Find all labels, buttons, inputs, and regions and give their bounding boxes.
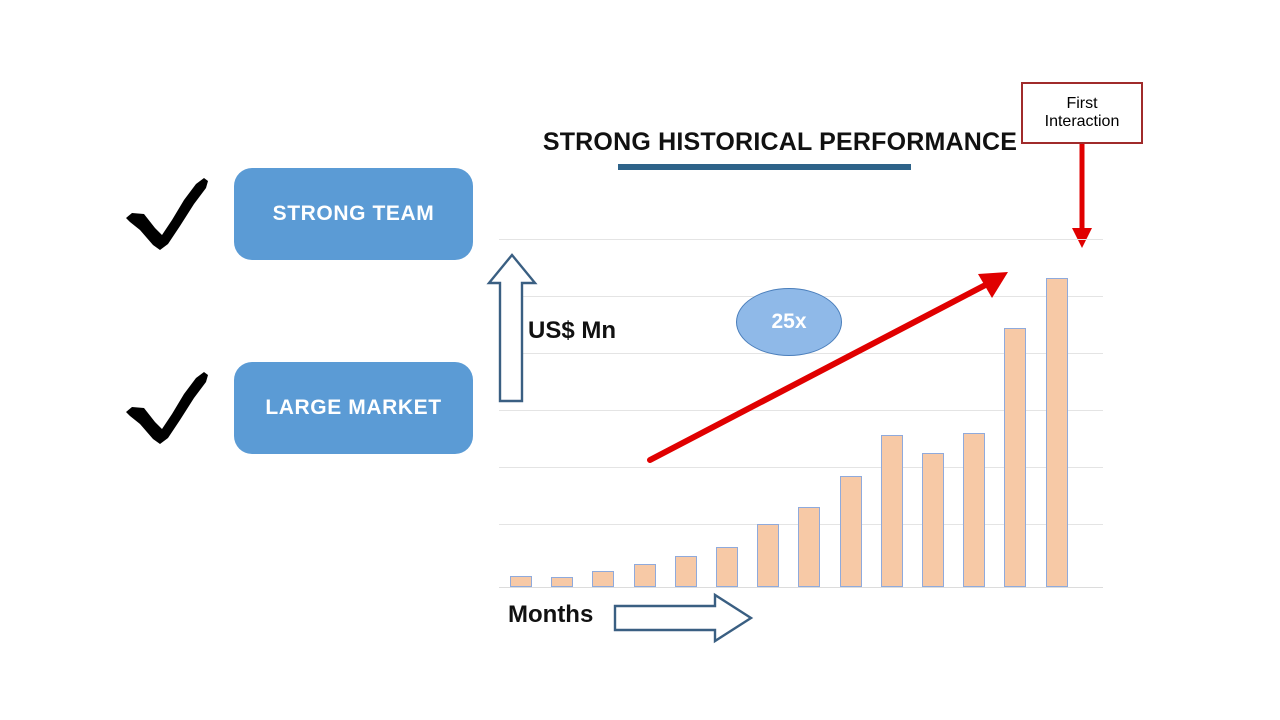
x-axis-label: Months: [508, 601, 593, 629]
first-interaction-callout[interactable]: First Interaction: [1021, 82, 1143, 144]
bar: [1046, 278, 1068, 587]
page-title: STRONG HISTORICAL PERFORMANCE: [520, 128, 1040, 157]
bar: [592, 571, 614, 587]
x-axis-baseline: [499, 587, 1103, 588]
bar: [840, 476, 862, 587]
bar: [716, 547, 738, 587]
bar: [551, 577, 573, 587]
right-arrow-outline-icon: [612, 592, 754, 644]
bar: [510, 576, 532, 587]
pill-strong-team[interactable]: STRONG TEAM: [234, 168, 473, 260]
y-axis-label: US$ Mn: [528, 317, 616, 345]
check-mark-icon: [122, 172, 214, 256]
first-interaction-callout-text: First Interaction: [1045, 95, 1120, 131]
bar: [634, 564, 656, 587]
bar: [922, 453, 944, 587]
slide-canvas: STRONG HISTORICAL PERFORMANCE First Inte…: [0, 0, 1280, 720]
check-mark-icon: [122, 366, 214, 450]
callout-line-1: First: [1045, 95, 1120, 113]
bar: [675, 556, 697, 587]
title-underline-rule: [618, 164, 911, 170]
pill-strong-team-label: STRONG TEAM: [273, 202, 435, 226]
pill-large-market[interactable]: LARGE MARKET: [234, 362, 473, 454]
bar: [798, 507, 820, 587]
gridline: [499, 239, 1103, 240]
bar: [757, 524, 779, 587]
page-title-text: STRONG HISTORICAL PERFORMANCE: [520, 128, 1040, 157]
callout-line-2: Interaction: [1045, 113, 1120, 131]
pill-large-market-label: LARGE MARKET: [265, 396, 441, 420]
upward-trend-arrow-icon: [640, 258, 1020, 472]
